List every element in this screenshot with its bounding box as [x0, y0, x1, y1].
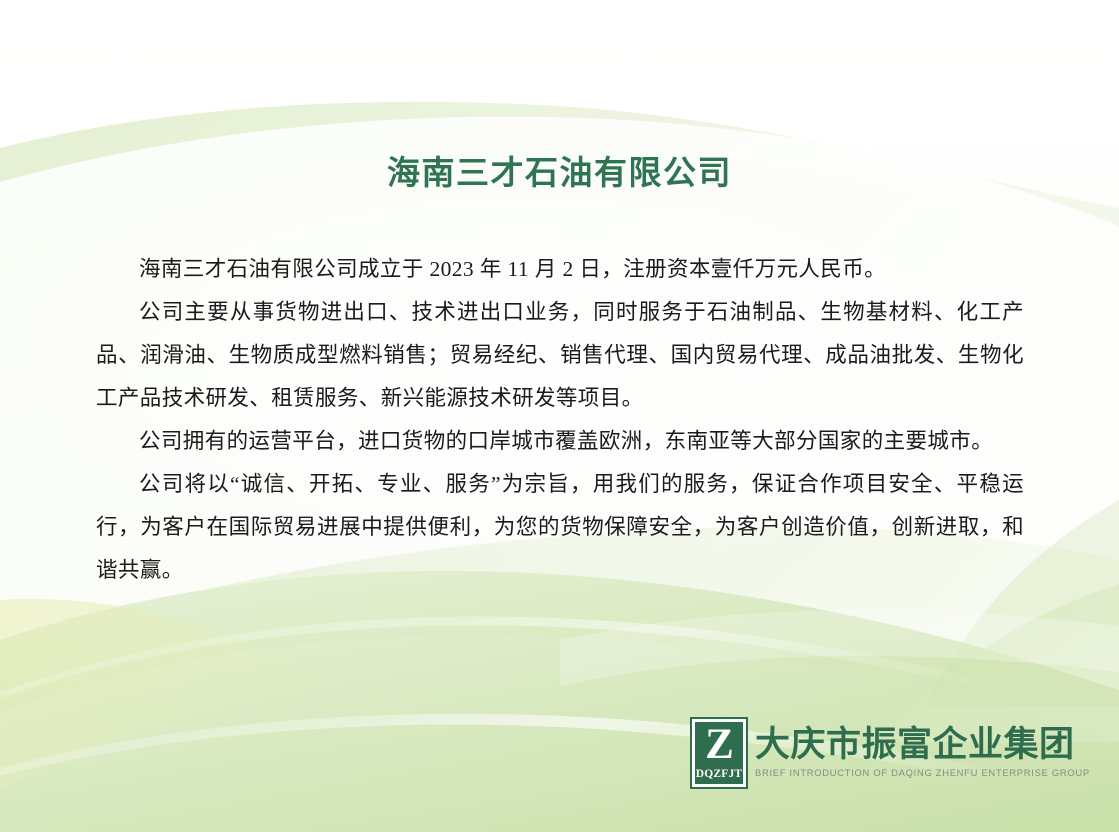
paragraph-3: 公司拥有的运营平台，进口货物的口岸城市覆盖欧洲，东南亚等大部分国家的主要城市。	[96, 420, 1024, 463]
paragraph-2: 公司主要从事货物进出口、技术进出口业务，同时服务于石油制品、生物基材料、化工产品…	[96, 291, 1024, 420]
page-title-container: 海南三才石油有限公司	[0, 152, 1119, 195]
document-body: 海南三才石油有限公司成立于 2023 年 11 月 2 日，注册资本壹仟万元人民…	[96, 248, 1024, 592]
logo-letter-z: Z	[705, 721, 733, 768]
company-logo: Z DQZFJT 大庆市振富企业集团 BRIEF INTRODUCTION OF…	[692, 718, 1090, 787]
paragraph-1: 海南三才石油有限公司成立于 2023 年 11 月 2 日，注册资本壹仟万元人民…	[96, 248, 1024, 291]
page-title: 海南三才石油有限公司	[387, 152, 732, 195]
logo-wordmark: 大庆市振富企业集团 BRIEF INTRODUCTION OF DAQING Z…	[755, 718, 1090, 779]
logo-mark-icon: Z DQZFJT	[692, 719, 746, 787]
slide-canvas: 海南三才石油有限公司 海南三才石油有限公司成立于 2023 年 11 月 2 日…	[0, 0, 1119, 832]
logo-company-name-en: BRIEF INTRODUCTION OF DAQING ZHENFU ENTE…	[755, 766, 1090, 779]
paragraph-4: 公司将以“诚信、开拓、专业、服务”为宗旨，用我们的服务，保证合作项目安全、平稳运…	[96, 463, 1024, 592]
logo-abbreviation: DQZFJT	[696, 768, 743, 780]
logo-company-name-cn: 大庆市振富企业集团	[755, 726, 1090, 764]
